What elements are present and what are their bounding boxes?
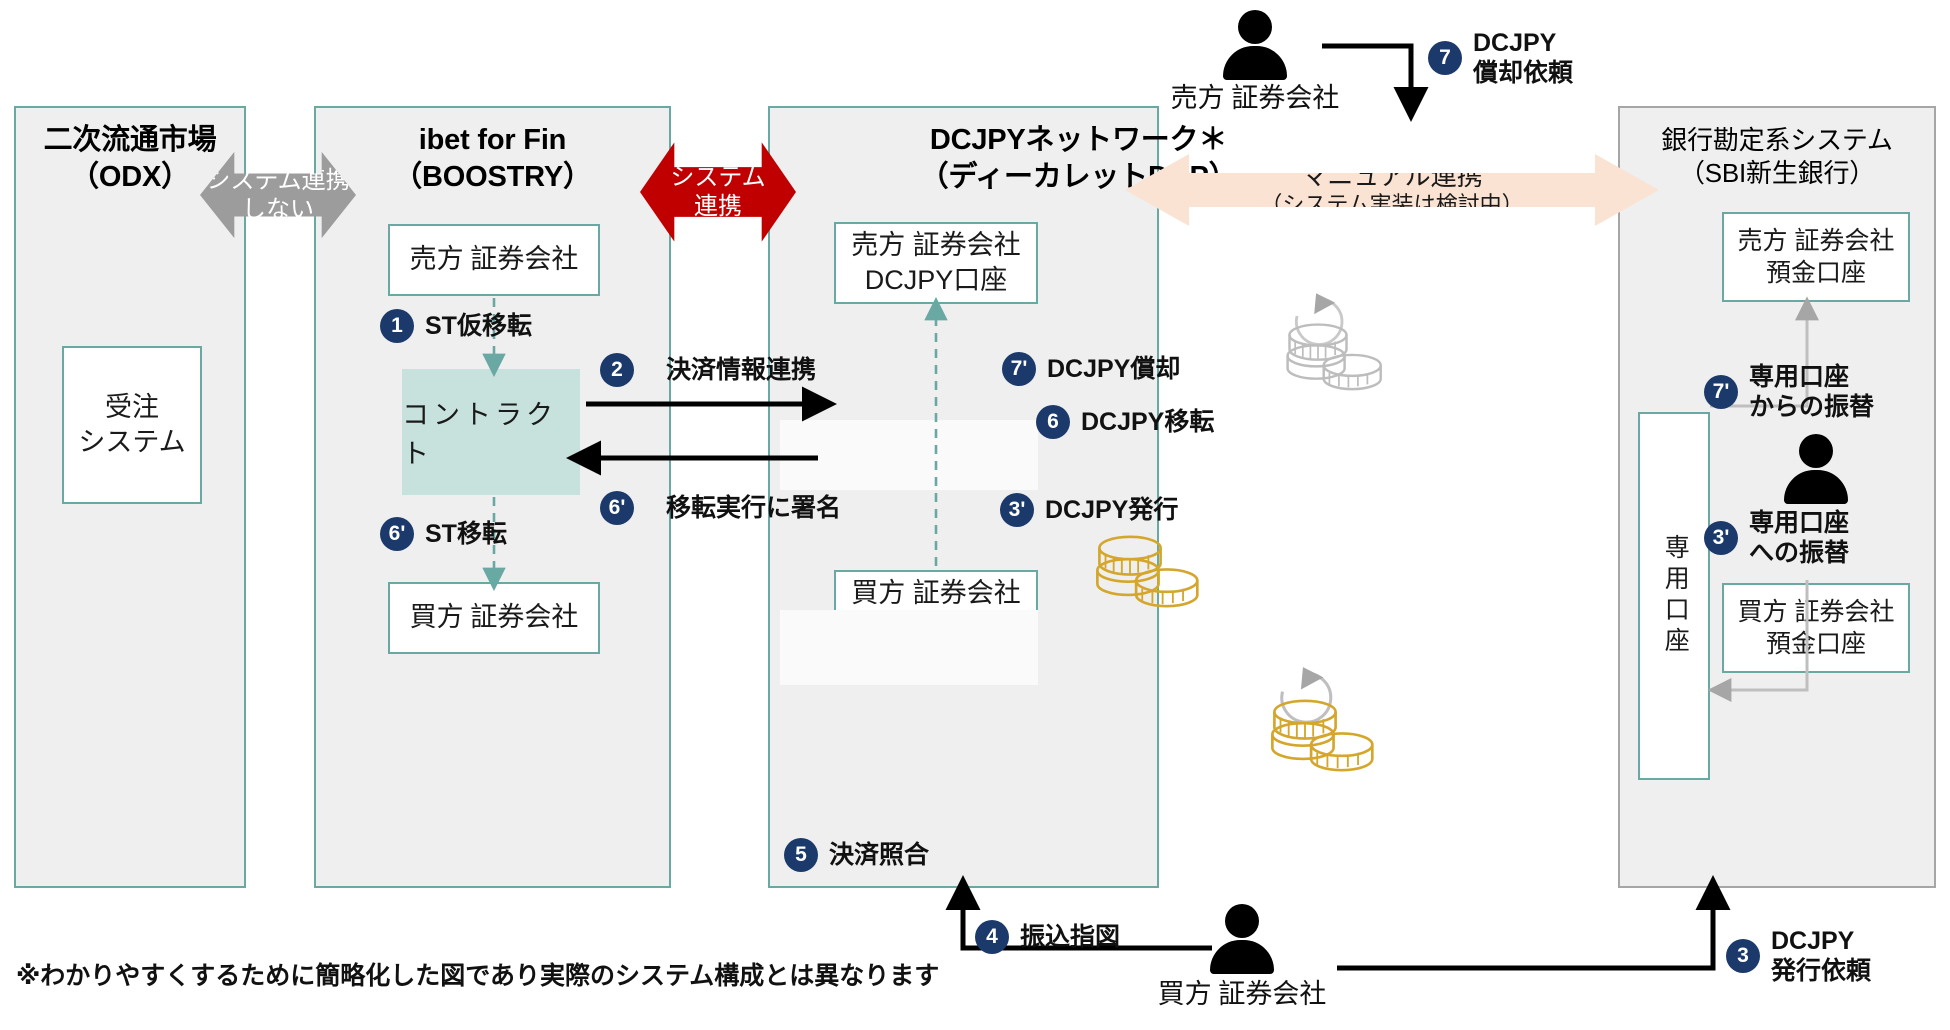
person-bank-operator [1746,430,1886,510]
panel-ibet-title-line2: （BOOSTRY） [316,159,669,196]
step-7-label-line2: 償却依頼 [1473,58,1573,88]
step-6p-st-badge: 6' [380,517,414,551]
step-3-badge: 3 [1726,939,1760,973]
step-5-label: 決済照合 [829,840,929,871]
step-4-transfer-instruction: 4 振込指図 [975,920,1120,954]
step-6p-st-transfer: 6' ST移転 [380,517,507,551]
box-dcjpy-seller-account: 売方 証券会社 DCJPY口座 [834,222,1038,304]
step-6p-sign-badge: 6' [600,491,634,525]
box-bank-dedicated-account-label: 専用口座 [1658,534,1691,658]
step-4-label: 振込指図 [1020,922,1120,953]
box-dcjpy-seller-account-label: 売方 証券会社 DCJPY口座 [851,228,1021,298]
step-2-label: 決済情報連携 [666,355,816,386]
panel-odx-title-line1: 二次流通市場 [16,122,244,159]
step-3p-issue-label: DCJPY発行 [1045,495,1178,526]
step-2-badge: 2 [600,353,634,387]
step-3p-dcjpy-issue: 3' DCJPY発行 [1000,493,1178,527]
connector-odx-ibet-line1: システム連携 [206,166,349,195]
step-3p-transfer-line2: への振替 [1749,538,1849,568]
step-7-label: DCJPY 償却依頼 [1473,28,1573,88]
step-3p-transfer-label: 専用口座 への振替 [1749,508,1849,568]
person-icon-head [1799,434,1833,468]
step-7-dcjpy-burn-request: 7 DCJPY 償却依頼 [1428,28,1573,88]
box-ibet-seller-label: 売方 証券会社 [410,242,579,277]
step-6p-st-label: ST移転 [425,519,507,550]
step-6-badge: 6 [1036,405,1070,439]
connector-ibet-dcjpy-line2: 連携 [670,192,765,221]
connector-odx-ibet-line2: しない [206,195,349,224]
person-icon-body [1784,470,1848,504]
connector-ibet-dcjpy-line1: システム [670,163,765,192]
arrow-step3-dcjpy-issue-request [1337,897,1713,968]
person-seller-top: 売方 証券会社 [1185,6,1325,104]
step-7p-transfer-from-dedicated: 7' 専用口座 からの振替 [1704,362,1874,422]
step-6p-sign-label: 移転実行に署名 [666,493,841,524]
step-2-settlement-info-link: 2 決済情報連携 [600,353,816,387]
box-order-system: 受注 システム [62,346,202,504]
step-7p-burn-badge: 7' [1002,352,1036,386]
step-3-label-line2: 発行依頼 [1771,956,1871,986]
person-icon-head [1225,904,1259,938]
box-bank-buyer-deposit: 買方 証券会社 預金口座 [1722,583,1910,673]
step-7-badge: 7 [1428,41,1462,75]
box-contract: コントラクト [402,369,580,495]
step-1-badge: 1 [380,309,414,343]
box-contract-label: コントラクト [402,393,580,471]
plate-step2 [780,420,1038,490]
step-7p-transfer-line2: からの振替 [1749,392,1874,422]
box-bank-seller-deposit: 売方 証券会社 預金口座 [1722,212,1910,302]
panel-ibet-title-line1: ibet for Fin [316,122,669,159]
step-6p-sign-execution: 6' 移転実行に署名 [600,491,841,525]
box-bank-seller-deposit-label: 売方 証券会社 預金口座 [1738,225,1895,290]
panel-bank-title-line2: （SBI新生銀行） [1620,157,1934,190]
coins-grey-icon-burn [1288,293,1381,389]
plate-step6p [780,610,1038,685]
panel-bank-title: 銀行勘定系システム （SBI新生銀行） [1620,124,1934,191]
box-bank-buyer-deposit-label: 買方 証券会社 預金口座 [1738,596,1895,661]
person-icon-body [1210,940,1274,974]
person-seller-top-label: 売方 証券会社 [1171,76,1340,115]
step-1-st-provisional-transfer: 1 ST仮移転 [380,309,532,343]
step-3-label: DCJPY 発行依頼 [1771,926,1871,986]
step-3p-transfer-line1: 専用口座 [1749,508,1849,538]
step-3p-transfer-badge: 3' [1704,521,1738,555]
panel-dcjpy-title-line1: DCJPYネットワーク＊ [760,122,1397,159]
panel-ibet-title: ibet for Fin （BOOSTRY） [316,122,669,196]
person-buyer-bottom-label: 買方 証券会社 [1158,972,1327,1011]
box-ibet-buyer: 買方 証券会社 [388,582,600,654]
step-7-label-line1: DCJPY [1473,28,1573,58]
box-ibet-buyer-label: 買方 証券会社 [410,600,579,635]
step-6-label: DCJPY移転 [1081,407,1214,438]
step-1-label: ST仮移転 [425,311,532,342]
step-3-dcjpy-issue-request: 3 DCJPY 発行依頼 [1726,926,1871,986]
step-7p-transfer-line1: 専用口座 [1749,362,1874,392]
step-7p-burn-label: DCJPY償却 [1047,354,1180,385]
box-bank-dedicated-account: 専用口座 [1638,412,1710,780]
step-7p-dcjpy-burn: 7' DCJPY償却 [1002,352,1180,386]
step-5-settlement-match: 5 決済照合 [784,838,929,872]
connector-dcjpy-bank-line2: （システム実装は検討中） [1260,192,1523,219]
step-7p-transfer-label: 専用口座 からの振替 [1749,362,1874,422]
coins-gold-icon-issue [1272,667,1372,770]
panel-bank-title-line1: 銀行勘定系システム [1620,124,1934,157]
box-order-system-label: 受注 システム [78,390,185,460]
step-3p-transfer-to-dedicated: 3' 専用口座 への振替 [1704,508,1849,568]
step-3-label-line1: DCJPY [1771,926,1871,956]
step-6-dcjpy-transfer: 6 DCJPY移転 [1036,405,1214,439]
box-ibet-seller: 売方 証券会社 [388,224,600,296]
footnote: ※わかりやすくするために簡略化した図であり実際のシステム構成とは異なります [16,956,939,992]
person-icon-head [1238,10,1272,44]
person-buyer-bottom: 買方 証券会社 [1172,900,1312,1010]
step-5-badge: 5 [784,838,818,872]
step-3p-issue-badge: 3' [1000,493,1034,527]
person-icon-body [1223,46,1287,80]
step-7p-transfer-badge: 7' [1704,375,1738,409]
step-4-badge: 4 [975,920,1009,954]
